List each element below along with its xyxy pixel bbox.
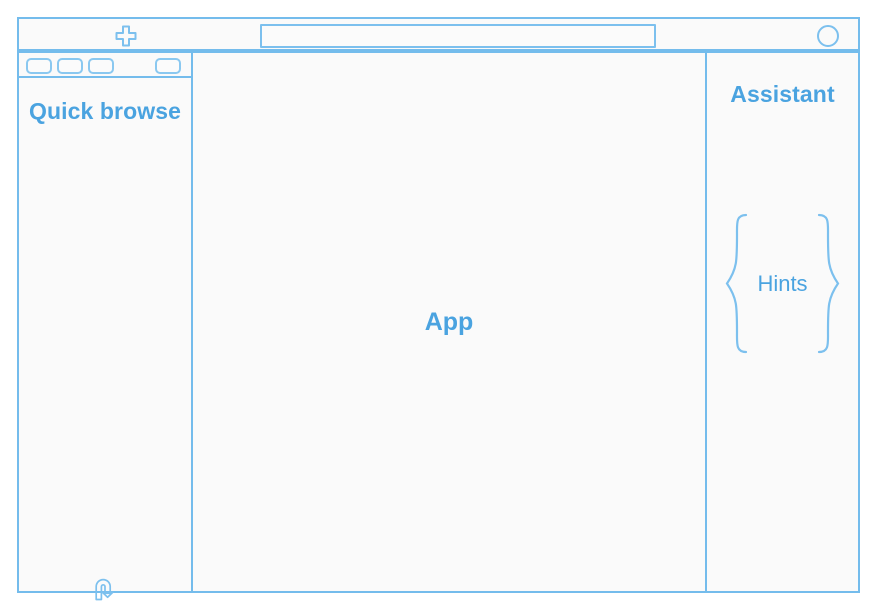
hints-label: Hints bbox=[720, 211, 845, 356]
tab-chip-4[interactable] bbox=[155, 58, 181, 74]
sidebar-tabstrip bbox=[19, 53, 191, 78]
sidebar-panel: Quick browse bbox=[17, 51, 193, 593]
assistant-panel: Assistant Hints bbox=[705, 51, 860, 593]
panels-row: Quick browse App Assistant Hints bbox=[17, 51, 860, 593]
sidebar-title: Quick browse bbox=[19, 93, 191, 129]
app-panel: App bbox=[191, 51, 707, 593]
address-bar-input[interactable] bbox=[260, 24, 656, 48]
plus-icon[interactable] bbox=[114, 24, 138, 48]
browser-chrome-bar bbox=[17, 17, 860, 51]
tab-chip-1[interactable] bbox=[26, 58, 52, 74]
assistant-title: Assistant bbox=[707, 81, 858, 108]
tab-chip-3[interactable] bbox=[88, 58, 114, 74]
page-title: App bbox=[193, 53, 705, 591]
circle-avatar-icon[interactable] bbox=[817, 25, 839, 47]
wireframe-frame: Quick browse App Assistant Hints bbox=[17, 17, 860, 593]
u-turn-arrow-icon[interactable] bbox=[91, 574, 121, 604]
tab-chip-2[interactable] bbox=[57, 58, 83, 74]
hints-group: Hints bbox=[720, 211, 845, 356]
